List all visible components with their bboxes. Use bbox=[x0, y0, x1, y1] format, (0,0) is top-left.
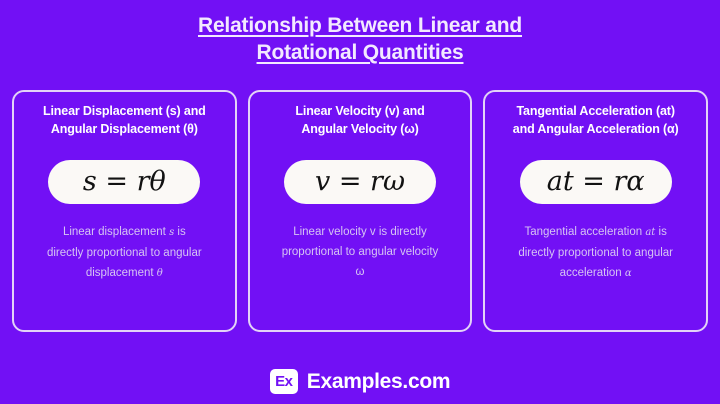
page-title-line-2: Rotational Quantities bbox=[257, 39, 464, 66]
desc-text-lead: Tangential acceleration bbox=[525, 226, 646, 238]
desc-text-lead: Linear velocity v is directly proportion… bbox=[282, 226, 439, 278]
formula-text: v = rω bbox=[315, 162, 405, 202]
concept-card-linear-velocity: Linear Velocity (v) and Angular Velocity… bbox=[248, 90, 473, 332]
page-title: Relationship Between Linear and Rotation… bbox=[0, 0, 720, 66]
desc-variable-1: at bbox=[645, 227, 655, 238]
card-title: Linear Velocity (v) and Angular Velocity… bbox=[295, 102, 424, 138]
card-title: Tangential Acceleration (at) and Angular… bbox=[513, 102, 679, 138]
formula-pill: s = rθ bbox=[48, 160, 200, 204]
card-description: Linear velocity v is directly proportion… bbox=[280, 222, 440, 283]
desc-variable-2: α bbox=[625, 268, 632, 279]
formula-pill: v = rω bbox=[284, 160, 436, 204]
formula-pill: at = rα bbox=[520, 160, 672, 204]
footer-branding: Ex Examples.com bbox=[0, 369, 720, 394]
card-description: Tangential acceleration at is directly p… bbox=[516, 222, 676, 284]
desc-text-lead: Linear displacement bbox=[63, 226, 169, 238]
card-title: Linear Displacement (s) and Angular Disp… bbox=[43, 102, 206, 138]
logo-mark-text: Ex bbox=[275, 374, 292, 389]
page-title-line-1: Relationship Between Linear and bbox=[198, 12, 522, 39]
examples-logo-icon: Ex bbox=[270, 369, 298, 394]
formula-text: s = rθ bbox=[83, 162, 166, 202]
concept-card-linear-displacement: Linear Displacement (s) and Angular Disp… bbox=[12, 90, 237, 332]
formula-text: at = rα bbox=[547, 162, 645, 202]
concept-cards-row: Linear Displacement (s) and Angular Disp… bbox=[12, 90, 708, 332]
concept-card-tangential-acceleration: Tangential Acceleration (at) and Angular… bbox=[483, 90, 708, 332]
card-description: Linear displacement s is directly propor… bbox=[44, 222, 204, 284]
brand-name: Examples.com bbox=[307, 370, 450, 394]
desc-variable-2: θ bbox=[157, 268, 163, 279]
